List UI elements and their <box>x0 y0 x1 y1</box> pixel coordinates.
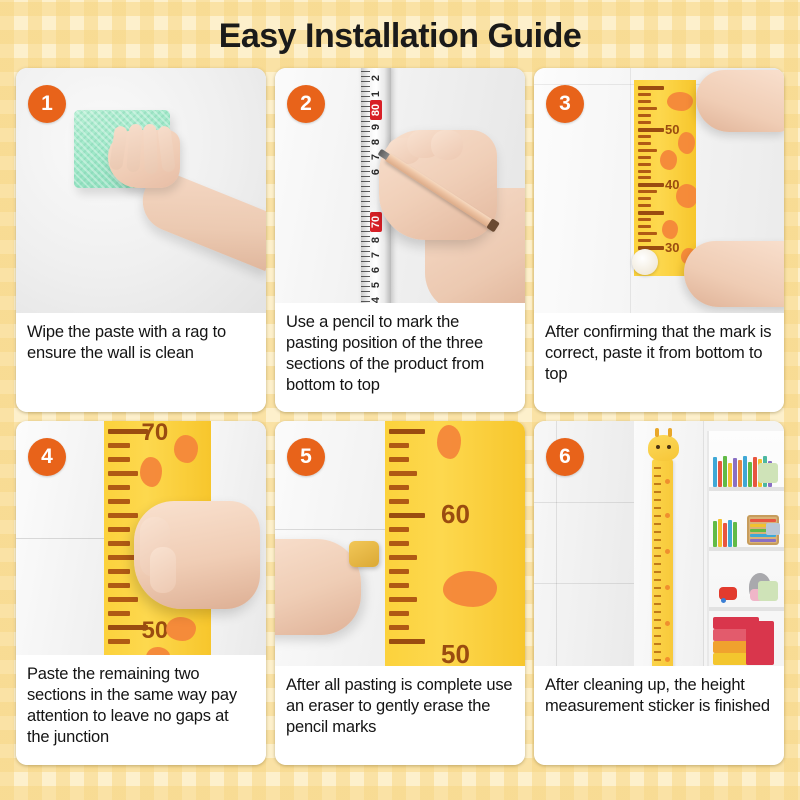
ruler-number-50: 50 <box>441 639 470 666</box>
installation-guide-page: Easy Installation Guide 1 Wipe the paste… <box>0 0 800 800</box>
step-card-4: 70 50 4 Paste the remaining two sections… <box>16 421 266 765</box>
step-badge-4: 4 <box>28 438 66 476</box>
ruler-number-50: 50 <box>142 617 169 645</box>
step-5-photo: 60 50 5 <box>275 421 525 666</box>
bookshelf <box>707 431 785 666</box>
step-6-photo: 6 <box>534 421 784 666</box>
step-caption-5: After all pasting is complete use an era… <box>275 666 525 765</box>
step-card-1: 1 Wipe the paste with a rag to ensure th… <box>16 68 266 412</box>
step-3-photo: 50 40 30 3 <box>534 68 784 313</box>
ruler-number-70: 70 <box>142 421 169 447</box>
step-card-5: 60 50 5 After all pasting is complete us… <box>275 421 525 765</box>
step-caption-4: Paste the remaining two sections in the … <box>16 655 266 765</box>
step-badge-1: 1 <box>28 85 66 123</box>
step-caption-3: After confirming that the mark is correc… <box>534 313 784 412</box>
ruler-number-60: 60 <box>441 499 470 530</box>
step-card-6: 6 After cleaning up, the height measurem… <box>534 421 784 765</box>
step-2-photo: 2 1 80 9 8 7 6 70 8 7 6 5 4 <box>275 68 525 303</box>
step-4-photo: 70 50 4 <box>16 421 266 655</box>
step-caption-1: Wipe the paste with a rag to ensure the … <box>16 313 266 412</box>
step-badge-3: 3 <box>546 85 584 123</box>
step-card-3: 50 40 30 3 After confirming that the mar… <box>534 68 784 412</box>
step-caption-6: After cleaning up, the height measuremen… <box>534 666 784 765</box>
step-badge-2: 2 <box>287 85 325 123</box>
height-ruler-strip: 50 40 30 <box>634 80 696 276</box>
giraffe-height-chart <box>652 459 673 666</box>
backing-paper <box>632 249 658 275</box>
page-title: Easy Installation Guide <box>0 0 800 58</box>
step-badge-5: 5 <box>287 438 325 476</box>
toy-telephone <box>719 587 737 600</box>
step-1-photo: 1 <box>16 68 266 313</box>
giraffe-head <box>648 435 679 461</box>
height-ruler-strip: 60 50 <box>385 421 525 666</box>
eraser <box>349 541 379 567</box>
step-caption-2: Use a pencil to mark the pasting positio… <box>275 303 525 412</box>
step-badge-6: 6 <box>546 438 584 476</box>
step-card-2: 2 1 80 9 8 7 6 70 8 7 6 5 4 <box>275 68 525 412</box>
steps-grid: 1 Wipe the paste with a rag to ensure th… <box>16 68 784 774</box>
hand-top <box>696 70 784 132</box>
ruler-number-50: 50 <box>665 122 679 137</box>
storage-bin <box>746 621 774 665</box>
hand-bottom <box>684 241 784 307</box>
book-row-middle <box>713 517 737 547</box>
ruler-number-30: 30 <box>665 240 679 255</box>
